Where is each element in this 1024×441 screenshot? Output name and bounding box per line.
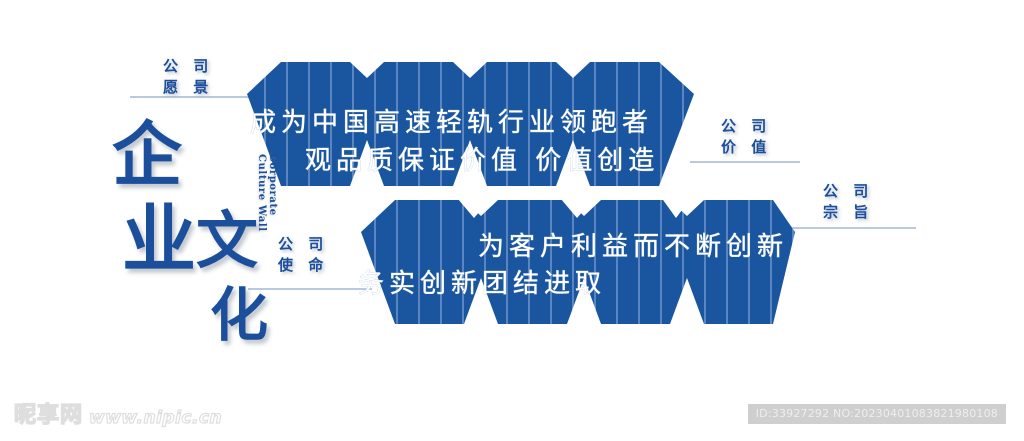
label-company-value-line1: 公 司 xyxy=(721,116,771,137)
label-company-mission-line2: 使 命 xyxy=(278,255,328,276)
label-company-mission-line1: 公 司 xyxy=(278,234,328,255)
row1-line1: 成为中国高速轻轨行业领跑者 xyxy=(250,108,653,138)
label-company-vision-line1: 公 司 xyxy=(163,56,213,77)
label-company-purpose: 公 司 宗 旨 xyxy=(823,181,873,223)
hexagon-row-2 xyxy=(361,200,795,324)
label-company-value: 公 司 价 值 xyxy=(721,116,771,158)
label-company-mission: 公 司 使 命 xyxy=(278,234,328,276)
culture-wall-canvas: 成为中国高速轻轨行业领跑者 观品质保证价值 价值创造 为客户利益而不断创新 务实… xyxy=(0,0,1024,441)
label-company-vision-line2: 愿 景 xyxy=(163,77,213,98)
row1-line2: 观品质保证价值 价值创造 xyxy=(305,146,659,176)
watermark-id-badge: ID:33927292 NO:20230401083821980108 xyxy=(748,404,1006,424)
hexagon-r2-4 xyxy=(670,200,795,324)
label-company-purpose-line1: 公 司 xyxy=(823,181,873,202)
label-company-value-line2: 价 值 xyxy=(721,137,771,158)
row2-line1: 为客户利益而不断创新 xyxy=(478,232,788,262)
row2-line2: 务实创新团结进取 xyxy=(358,269,606,299)
label-company-vision: 公 司 愿 景 xyxy=(163,56,213,98)
label-company-purpose-line2: 宗 旨 xyxy=(823,202,873,223)
